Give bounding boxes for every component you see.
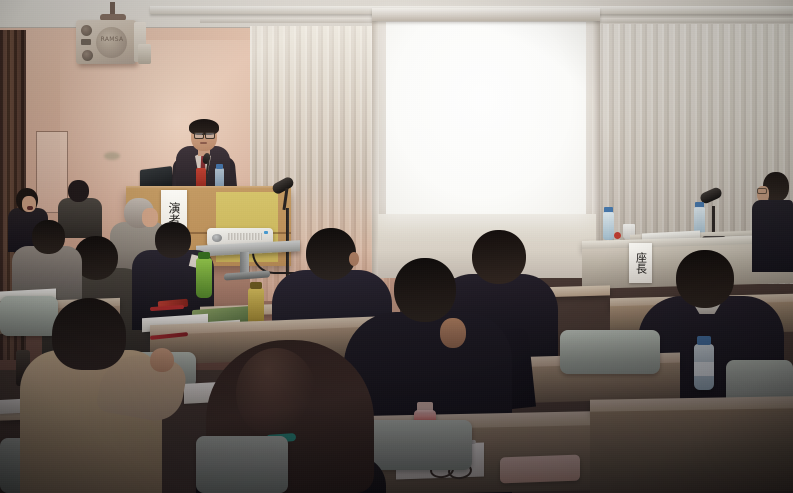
audience-member-dark-suit-center-ear [349,252,359,266]
speaker-tweeter-top [81,25,92,36]
audience-member-grey-face [142,208,158,227]
speaker-brand-label: RAMSA [95,36,129,43]
audience-member-right-suit-head [676,250,734,308]
audience-member-foreground-head [394,258,456,322]
audience-member-left-head [32,220,65,254]
clear-water-bottle-label [694,362,714,376]
speaker-bracket-lower [138,44,151,64]
desk-front-right-front [590,408,793,493]
chairperson-sign: 座長 [629,243,652,283]
presenter-mouth [200,142,207,144]
projection-screen-roller [372,8,600,21]
speaker-tweeter-bottom [82,50,93,61]
clear-water-bottle-cap [697,336,711,345]
audience-member-foreground-hand [440,318,466,348]
audience-woman-tan-blazer-hair [52,298,126,370]
projector-lens [212,234,222,242]
audience-member-curly-hair-head [472,230,526,284]
audience-member-dark-suit-center-head [306,228,356,280]
seminar-room-photo: RAMSA 演者 座長 [0,0,793,493]
wall-mark [104,152,120,160]
projector-vent [228,233,262,240]
chairperson-glasses [757,188,767,194]
chair-front-woman [196,436,288,493]
audience-member-back-left-mouth [27,206,33,210]
chair-back-left [0,296,58,336]
green-tea-bottle [196,258,212,298]
audience-woman-long-hair-highlight [236,348,316,438]
podium-water-bottle-cap [216,164,223,169]
projection-screen [386,22,586,214]
gold-tea-bottle-cap [250,282,262,289]
panel-red-marker [614,232,621,239]
speaker-port-slot [81,39,91,45]
audience-member-back-head [68,180,89,202]
chair-mid-right [560,330,660,374]
panel-bottle-left [603,212,614,240]
chairperson-torso [752,200,793,272]
audience-woman-tan-blazer-hand [150,348,174,372]
presenter-glasses-right-lens [205,132,215,139]
pink-pencil-case [500,455,580,484]
projector-power-led [264,231,268,234]
chairperson-sign-text: 座長 [633,252,649,274]
green-tea-bottle-cap [198,252,210,259]
presenter-glasses-bridge [202,134,205,135]
